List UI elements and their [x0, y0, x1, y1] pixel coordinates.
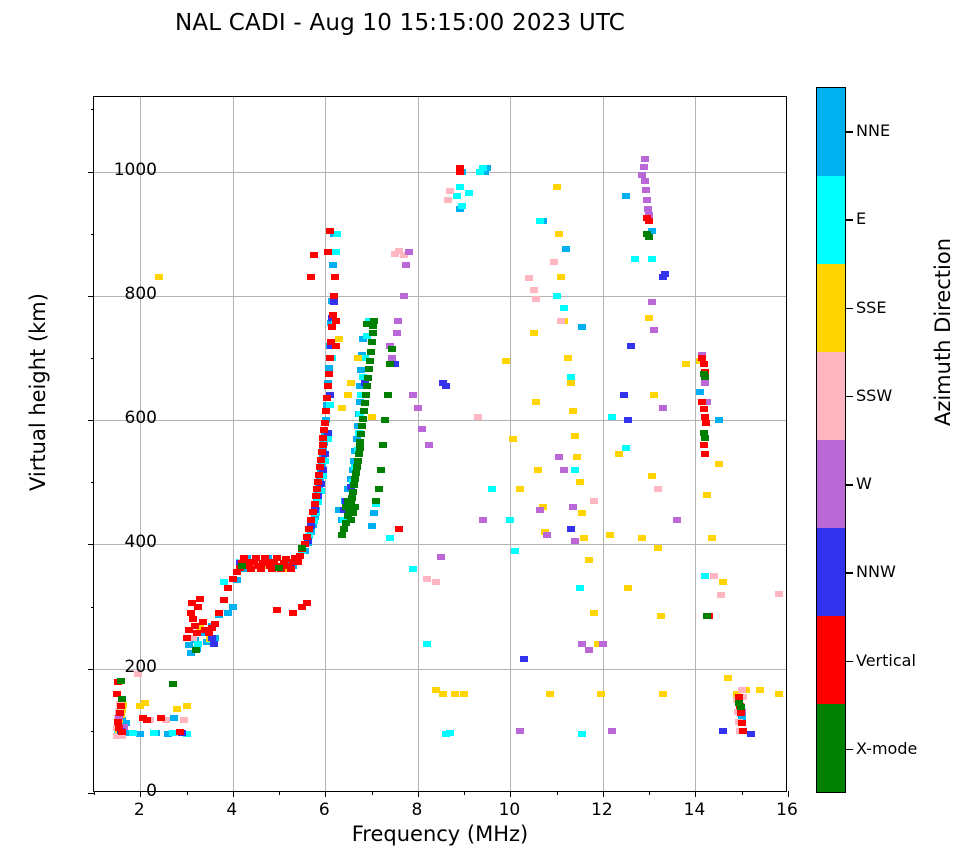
echo-marker-vertical — [325, 371, 333, 377]
echo-marker-vertical — [176, 729, 184, 735]
x-axis-tick — [233, 791, 234, 797]
gridline-horizontal — [94, 669, 786, 670]
gridline-horizontal — [94, 296, 786, 297]
colorbar-label-w: W — [856, 474, 872, 493]
echo-marker-x-mode — [192, 647, 200, 653]
echo-marker-sse — [555, 231, 563, 237]
echo-marker-w — [638, 172, 646, 178]
x-axis-minor-tick — [187, 791, 188, 795]
echo-marker-sse — [590, 610, 598, 616]
echo-marker-vertical — [307, 517, 315, 523]
echo-marker-sse — [597, 691, 605, 697]
echo-marker-x-mode — [377, 467, 385, 473]
echo-marker-w — [673, 517, 681, 523]
echo-marker-e — [458, 203, 466, 209]
colorbar-tick — [846, 219, 853, 220]
echo-marker-sse — [564, 355, 572, 361]
echo-marker-vertical — [317, 457, 325, 463]
echo-marker-vertical — [224, 585, 232, 591]
echo-marker-nnw — [661, 271, 669, 277]
echo-marker-sse — [724, 675, 732, 681]
x-axis-tick — [695, 791, 696, 797]
echo-marker-x-mode — [275, 565, 283, 571]
echo-marker-vertical — [199, 619, 207, 625]
echo-marker-vertical — [220, 597, 228, 603]
echo-marker-vertical — [296, 553, 304, 559]
echo-marker-x-mode — [363, 383, 371, 389]
x-axis-minor-tick — [557, 791, 558, 795]
echo-marker-nnw — [210, 641, 218, 647]
echo-marker-w — [578, 641, 586, 647]
echo-marker-sse — [578, 510, 586, 516]
x-axis-tick-label: 10 — [479, 800, 539, 820]
colorbar-label-sse: SSE — [856, 298, 886, 317]
echo-marker-x-mode — [369, 330, 377, 336]
echo-marker-e — [194, 641, 202, 647]
echo-marker-vertical — [319, 442, 327, 448]
echo-marker-x-mode — [342, 504, 350, 510]
echo-marker-vertical — [700, 406, 708, 412]
echo-marker-vertical — [700, 361, 708, 367]
echo-marker-x-mode — [381, 417, 389, 423]
echo-marker-x-mode — [238, 563, 246, 569]
echo-marker-w — [388, 355, 396, 361]
echo-marker-w — [642, 187, 650, 193]
echo-marker-sse — [659, 691, 667, 697]
echo-marker-e — [456, 184, 464, 190]
echo-marker-e — [578, 731, 586, 737]
echo-marker-sse — [451, 691, 459, 697]
echo-marker-ssw — [550, 259, 558, 265]
echo-marker-vertical — [215, 610, 223, 616]
echo-marker-vertical — [701, 451, 709, 457]
x-axis-minor-tick — [372, 791, 373, 795]
echo-marker-vertical — [324, 249, 332, 255]
echo-marker-sse — [650, 392, 658, 398]
echo-marker-x-mode — [351, 476, 359, 482]
echo-marker-vertical — [328, 324, 336, 330]
echo-marker-nnw — [624, 417, 632, 423]
colorbar-tick — [846, 396, 853, 397]
echo-marker-e — [488, 486, 496, 492]
echo-marker-w — [659, 405, 667, 411]
colorbar-band-w — [817, 440, 845, 528]
echo-marker-x-mode — [375, 486, 383, 492]
echo-marker-vertical — [332, 318, 340, 324]
echo-marker-nne — [229, 604, 237, 610]
echo-marker-e — [465, 190, 473, 196]
echo-marker-ssw — [590, 498, 598, 504]
x-axis-minor-tick — [279, 791, 280, 795]
echo-marker-sse — [439, 691, 447, 697]
colorbar-tick — [846, 308, 853, 309]
echo-marker-ssw — [738, 687, 746, 693]
echo-marker-ssw — [474, 414, 482, 420]
echo-marker-sse — [569, 408, 577, 414]
echo-marker-vertical — [157, 715, 165, 721]
colorbar-band-ssw — [817, 352, 845, 440]
echo-marker-e — [423, 641, 431, 647]
ionogram-plot-frame — [93, 96, 787, 792]
echo-marker-sse — [654, 545, 662, 551]
echo-marker-vertical — [332, 343, 340, 349]
echo-marker-ssw — [444, 197, 452, 203]
echo-marker-nne — [578, 324, 586, 330]
echo-marker-e — [479, 165, 487, 171]
colorbar-tick — [846, 749, 853, 750]
echo-marker-w — [641, 156, 649, 162]
echo-marker-e — [622, 445, 630, 451]
echo-marker-x-mode — [354, 458, 362, 464]
echo-marker-nnw — [442, 383, 450, 389]
gridline-horizontal — [94, 544, 786, 545]
x-axis-minor-tick — [742, 791, 743, 795]
echo-marker-sse — [606, 532, 614, 538]
echo-marker-nnw — [747, 731, 755, 737]
echo-marker-sse — [460, 691, 468, 697]
echo-marker-vertical — [289, 610, 297, 616]
echo-marker-w — [418, 426, 426, 432]
echo-marker-e — [386, 535, 394, 541]
echo-marker-vertical — [739, 728, 747, 734]
echo-marker-ssw — [525, 275, 533, 281]
y-axis-minor-tick — [91, 358, 95, 359]
echo-marker-x-mode — [351, 504, 359, 510]
echo-marker-vertical — [314, 479, 322, 485]
echo-marker-x-mode — [372, 498, 380, 504]
echo-marker-ssw — [432, 579, 440, 585]
echo-marker-x-mode — [356, 445, 364, 451]
echo-marker-w — [650, 327, 658, 333]
gridline-vertical — [233, 97, 234, 791]
x-axis-tick — [325, 791, 326, 797]
echo-marker-vertical — [331, 274, 339, 280]
x-axis-tick — [603, 791, 604, 797]
echo-marker-nnw — [719, 728, 727, 734]
y-axis-tick-label: 200 — [77, 657, 157, 677]
x-axis-minor-tick — [649, 791, 650, 795]
x-axis-minor-tick — [464, 791, 465, 795]
echo-marker-sse — [719, 579, 727, 585]
echo-marker-x-mode — [352, 470, 360, 476]
echo-marker-sse — [648, 473, 656, 479]
echo-marker-sse — [624, 585, 632, 591]
echo-marker-w — [400, 293, 408, 299]
echo-marker-vertical — [273, 607, 281, 613]
echo-marker-vertical — [326, 228, 334, 234]
echo-marker-e — [571, 467, 579, 473]
echo-marker-x-mode — [349, 510, 357, 516]
echo-marker-vertical — [320, 427, 328, 433]
echo-marker-e — [576, 585, 584, 591]
y-axis-minor-tick — [91, 482, 95, 483]
echo-marker-e — [409, 566, 417, 572]
echo-marker-vertical — [395, 526, 403, 532]
echo-marker-sse — [509, 436, 517, 442]
echo-marker-vertical — [456, 165, 464, 171]
echo-marker-w — [608, 728, 616, 734]
echo-marker-x-mode — [361, 400, 369, 406]
echo-marker-w — [536, 507, 544, 513]
y-axis-minor-tick — [91, 234, 95, 235]
echo-marker-w — [543, 532, 551, 538]
echo-marker-e — [326, 402, 334, 408]
echo-marker-nne — [715, 417, 723, 423]
x-axis-tick-label: 4 — [202, 800, 262, 820]
gridline-vertical — [695, 97, 696, 791]
echo-marker-vertical — [329, 312, 337, 318]
echo-marker-sse — [571, 433, 579, 439]
echo-marker-vertical — [322, 408, 330, 414]
echo-marker-ssw — [532, 296, 540, 302]
x-axis-tick — [418, 791, 419, 797]
colorbar-tick — [846, 131, 853, 132]
gridline-horizontal — [94, 420, 786, 421]
echo-marker-w — [516, 728, 524, 734]
y-axis-minor-tick — [91, 109, 95, 110]
gridline-vertical — [140, 97, 141, 791]
echo-marker-vertical — [698, 399, 706, 405]
echo-marker-e — [631, 256, 639, 262]
echo-marker-sse — [546, 691, 554, 697]
x-axis-tick-label: 14 — [664, 800, 724, 820]
echo-marker-e — [701, 573, 709, 579]
echo-marker-e — [332, 249, 340, 255]
echo-marker-sse — [534, 467, 542, 473]
echo-marker-sse — [141, 700, 149, 706]
azimuth-colorbar — [816, 87, 846, 793]
echo-marker-vertical — [117, 703, 125, 709]
colorbar-tick — [846, 661, 853, 662]
echo-marker-x-mode — [355, 451, 363, 457]
echo-marker-x-mode — [360, 408, 368, 414]
echo-marker-w — [405, 249, 413, 255]
echo-marker-e — [553, 293, 561, 299]
echo-marker-e — [511, 548, 519, 554]
echo-marker-vertical — [735, 694, 743, 700]
echo-marker-vertical — [698, 355, 706, 361]
colorbar-band-sse — [817, 264, 845, 352]
echo-marker-nne — [696, 389, 704, 395]
echo-marker-e — [150, 730, 158, 736]
echo-marker-w — [414, 405, 422, 411]
echo-marker-e — [446, 730, 454, 736]
echo-marker-e — [608, 414, 616, 420]
page-title: NAL CADI - Aug 10 15:15:00 2023 UTC — [0, 10, 800, 36]
echo-marker-vertical — [316, 464, 324, 470]
echo-marker-w — [571, 538, 579, 544]
echo-marker-nne — [224, 610, 232, 616]
echo-marker-vertical — [305, 526, 313, 532]
echo-marker-x-mode — [117, 678, 125, 684]
echo-marker-x-mode — [363, 321, 371, 327]
echo-marker-sse — [344, 392, 352, 398]
echo-marker-sse — [567, 380, 575, 386]
echo-marker-vertical — [326, 355, 334, 361]
echo-marker-nne — [370, 510, 378, 516]
y-axis-minor-tick — [91, 731, 95, 732]
echo-marker-x-mode — [701, 435, 709, 441]
colorbar-tick — [846, 484, 853, 485]
echo-marker-x-mode — [366, 358, 374, 364]
echo-marker-x-mode — [298, 545, 306, 551]
x-axis-tick — [788, 791, 789, 797]
echo-marker-ssw — [423, 576, 431, 582]
echo-marker-x-mode — [169, 681, 177, 687]
echo-marker-w — [701, 380, 709, 386]
echo-marker-vertical — [187, 610, 195, 616]
echo-marker-ssw — [717, 592, 725, 598]
y-axis-tick-label: 400 — [77, 532, 157, 552]
echo-marker-vertical — [311, 501, 319, 507]
gridline-vertical — [603, 97, 604, 791]
echo-marker-x-mode — [362, 392, 370, 398]
y-axis-label: Virtual height (km) — [26, 242, 50, 542]
echo-marker-sse — [585, 557, 593, 563]
echo-marker-sse — [553, 184, 561, 190]
echo-marker-x-mode — [386, 361, 394, 367]
echo-marker-x-mode — [368, 339, 376, 345]
echo-marker-w — [585, 647, 593, 653]
plot-data-area — [94, 97, 786, 791]
echo-marker-vertical — [737, 710, 745, 716]
echo-marker-vertical — [303, 534, 311, 540]
colorbar-label-x-mode: X-mode — [856, 739, 917, 758]
echo-marker-vertical — [312, 493, 320, 499]
echo-marker-vertical — [324, 383, 332, 389]
echo-marker-e — [536, 218, 544, 224]
echo-marker-vertical — [319, 435, 327, 441]
echo-marker-vertical — [330, 293, 338, 299]
echo-marker-vertical — [114, 719, 122, 725]
colorbar-title: Azimuth Direction — [931, 182, 955, 482]
colorbar-label-vertical: Vertical — [856, 651, 916, 670]
echo-marker-sse — [708, 535, 716, 541]
echo-marker-sse — [573, 454, 581, 460]
echo-marker-x-mode — [349, 489, 357, 495]
echo-marker-vertical — [702, 420, 710, 426]
echo-marker-x-mode — [703, 613, 711, 619]
echo-marker-nnw — [520, 656, 528, 662]
y-axis-tick-label: 800 — [77, 284, 157, 304]
echo-marker-vertical — [645, 218, 653, 224]
echo-marker-sse — [715, 461, 723, 467]
echo-marker-w — [555, 454, 563, 460]
echo-marker-vertical — [196, 596, 204, 602]
echo-marker-vertical — [257, 566, 265, 572]
echo-marker-e — [506, 517, 514, 523]
echo-marker-x-mode — [737, 704, 745, 710]
echo-marker-w — [393, 330, 401, 336]
echo-marker-sse — [532, 399, 540, 405]
echo-marker-x-mode — [353, 464, 361, 470]
echo-marker-vertical — [315, 472, 323, 478]
echo-marker-vertical — [313, 486, 321, 492]
y-axis-tick-label: 600 — [77, 408, 157, 428]
y-axis-minor-tick — [91, 607, 95, 608]
echo-marker-x-mode — [356, 439, 364, 445]
gridline-vertical — [510, 97, 511, 791]
gridline-vertical — [418, 97, 419, 791]
echo-marker-vertical — [701, 414, 709, 420]
y-axis-tick-label: 1000 — [77, 160, 157, 180]
colorbar-tick — [846, 572, 853, 573]
echo-marker-vertical — [189, 616, 197, 622]
colorbar-band-vertical — [817, 616, 845, 704]
y-axis-tick-label: 0 — [77, 781, 157, 801]
echo-marker-e — [453, 193, 461, 199]
echo-marker-sse — [368, 414, 376, 420]
colorbar-label-nnw: NNW — [856, 562, 896, 581]
echo-marker-x-mode — [364, 375, 372, 381]
echo-marker-w — [409, 392, 417, 398]
echo-marker-sse — [338, 405, 346, 411]
colorbar-band-x-mode — [817, 704, 845, 792]
echo-marker-ssw — [180, 717, 188, 723]
echo-marker-nnw — [620, 392, 628, 398]
echo-marker-nnw — [627, 343, 635, 349]
echo-marker-sse — [657, 613, 665, 619]
echo-marker-sse — [516, 486, 524, 492]
echo-marker-nnw — [330, 299, 338, 305]
echo-marker-sse — [638, 535, 646, 541]
echo-marker-w — [643, 197, 651, 203]
echo-marker-x-mode — [367, 349, 375, 355]
echo-marker-e — [567, 374, 575, 380]
echo-marker-vertical — [287, 566, 295, 572]
colorbar-label-e: E — [856, 209, 866, 228]
echo-marker-x-mode — [701, 374, 709, 380]
echo-marker-x-mode — [384, 392, 392, 398]
echo-marker-nne — [622, 193, 630, 199]
echo-marker-w — [648, 299, 656, 305]
colorbar-label-ssw: SSW — [856, 386, 892, 405]
echo-marker-sse — [756, 687, 764, 693]
x-axis-tick-label: 6 — [294, 800, 354, 820]
echo-marker-sse — [502, 358, 510, 364]
echo-marker-vertical — [309, 509, 317, 515]
echo-marker-sse — [703, 492, 711, 498]
echo-marker-w — [644, 206, 652, 212]
echo-marker-ssw — [530, 287, 538, 293]
echo-marker-x-mode — [358, 423, 366, 429]
echo-marker-nne — [136, 731, 144, 737]
echo-marker-w — [402, 262, 410, 268]
echo-marker-nne — [368, 523, 376, 529]
echo-marker-e — [560, 305, 568, 311]
echo-marker-sse — [557, 274, 565, 280]
gridline-horizontal — [94, 172, 786, 173]
echo-marker-sse — [580, 535, 588, 541]
echo-marker-e — [220, 579, 228, 585]
echo-marker-vertical — [143, 717, 151, 723]
echo-marker-vertical — [294, 559, 302, 565]
echo-marker-x-mode — [357, 431, 365, 437]
echo-marker-x-mode — [338, 532, 346, 538]
echo-marker-sse — [335, 336, 343, 342]
echo-marker-sse — [354, 355, 362, 361]
echo-marker-vertical — [193, 630, 201, 636]
echo-marker-vertical — [321, 420, 329, 426]
echo-marker-w — [569, 504, 577, 510]
echo-marker-w — [425, 442, 433, 448]
echo-marker-x-mode — [645, 234, 653, 240]
echo-marker-x-mode — [359, 416, 367, 422]
echo-marker-w — [394, 318, 402, 324]
echo-marker-e — [129, 730, 137, 736]
echo-marker-vertical — [323, 395, 331, 401]
colorbar-band-nne — [817, 88, 845, 176]
